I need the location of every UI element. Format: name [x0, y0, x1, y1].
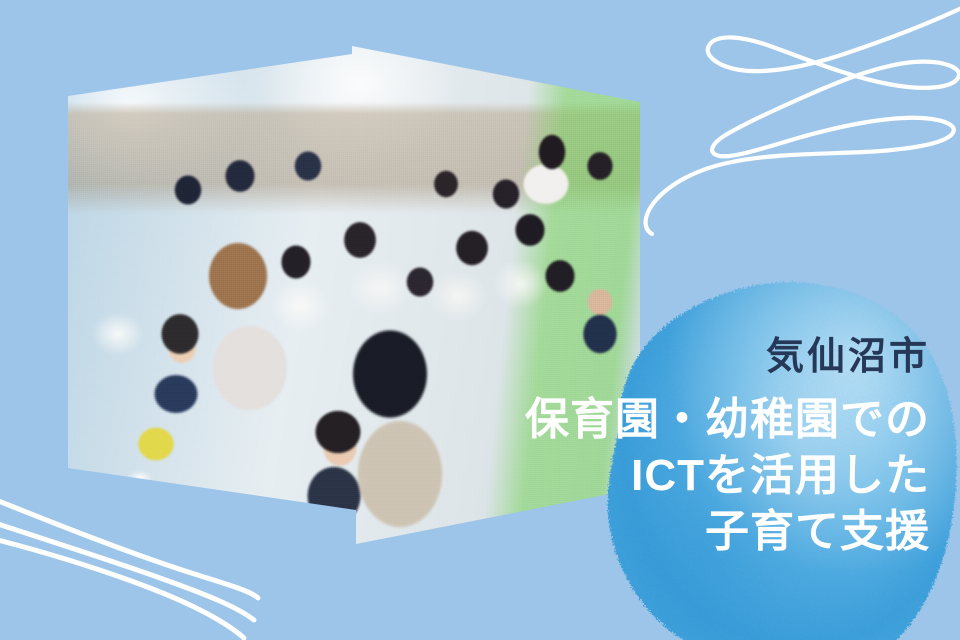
headline-line-3: 子育て支援: [460, 510, 930, 554]
banner-card: 気仙沼市 保育園・幼稚園での ICTを活用した 子育て支援: [0, 0, 960, 640]
title-text-block: 気仙沼市 保育園・幼稚園での ICTを活用した 子育て支援: [460, 338, 930, 554]
headline-line-1: 保育園・幼稚園での: [460, 398, 930, 442]
headline: 保育園・幼稚園での ICTを活用した 子育て支援: [460, 398, 930, 554]
city-label: 気仙沼市: [460, 338, 930, 376]
headline-line-2: ICTを活用した: [460, 454, 930, 498]
